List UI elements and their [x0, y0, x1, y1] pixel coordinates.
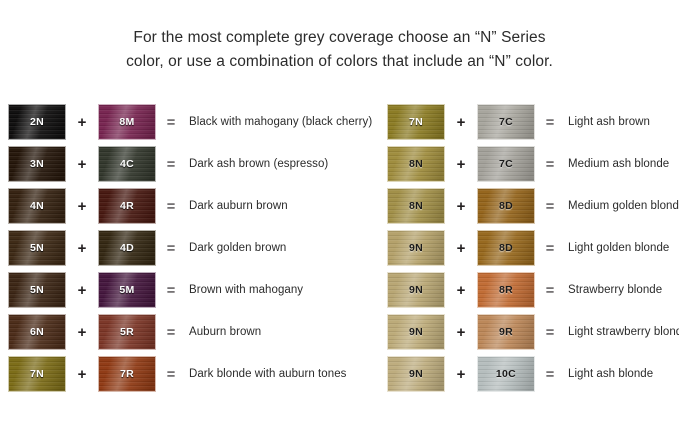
- equals-operator: =: [535, 282, 565, 299]
- mix-color-swatch-code: 4R: [120, 200, 134, 212]
- formula-row: 9N+8D=Light golden blonde: [387, 230, 679, 266]
- equals-operator: =: [156, 240, 186, 257]
- formula-row: 5N+5M=Brown with mahogany: [8, 272, 380, 308]
- mix-color-swatch: 7R: [98, 356, 156, 392]
- result-label: Light ash blonde: [565, 368, 679, 380]
- plus-operator: +: [66, 324, 98, 341]
- equals-operator: =: [156, 198, 186, 215]
- plus-operator: +: [66, 240, 98, 257]
- mix-color-swatch: 4R: [98, 188, 156, 224]
- base-color-swatch: 9N: [387, 356, 445, 392]
- formula-row: 4N+4R=Dark auburn brown: [8, 188, 380, 224]
- mix-color-swatch-code: 5R: [120, 326, 134, 338]
- base-color-swatch-code: 9N: [409, 368, 423, 380]
- formula-row: 9N+9R=Light strawberry blonde: [387, 314, 679, 350]
- mix-color-swatch: 9R: [477, 314, 535, 350]
- mix-color-swatch-code: 8M: [119, 116, 134, 128]
- mix-color-swatch: 5M: [98, 272, 156, 308]
- formula-row: 5N+4D=Dark golden brown: [8, 230, 380, 266]
- equals-operator: =: [535, 366, 565, 383]
- mix-color-swatch: 7C: [477, 146, 535, 182]
- base-color-swatch: 4N: [8, 188, 66, 224]
- mix-color-swatch: 7C: [477, 104, 535, 140]
- page-heading: For the most complete grey coverage choo…: [0, 26, 679, 74]
- result-label: Auburn brown: [186, 326, 380, 338]
- plus-operator: +: [66, 198, 98, 215]
- mix-color-swatch-code: 8R: [499, 284, 513, 296]
- result-label: Dark blonde with auburn tones: [186, 368, 380, 380]
- plus-operator: +: [445, 324, 477, 341]
- mix-color-swatch-code: 10C: [496, 368, 516, 380]
- base-color-swatch-code: 5N: [30, 242, 44, 254]
- plus-operator: +: [66, 366, 98, 383]
- result-label: Black with mahogany (black cherry): [186, 116, 380, 128]
- base-color-swatch: 8N: [387, 188, 445, 224]
- plus-operator: +: [66, 156, 98, 173]
- base-color-swatch: 5N: [8, 230, 66, 266]
- base-color-swatch-code: 8N: [409, 200, 423, 212]
- plus-operator: +: [445, 156, 477, 173]
- base-color-swatch-code: 8N: [409, 158, 423, 170]
- mix-color-swatch: 4D: [98, 230, 156, 266]
- base-color-swatch: 5N: [8, 272, 66, 308]
- result-label: Medium golden blonde: [565, 200, 679, 212]
- plus-operator: +: [66, 114, 98, 131]
- result-label: Dark ash brown (espresso): [186, 158, 380, 170]
- mix-color-swatch: 5R: [98, 314, 156, 350]
- mix-color-swatch: 10C: [477, 356, 535, 392]
- base-color-swatch-code: 6N: [30, 326, 44, 338]
- formula-row: 2N+8M=Black with mahogany (black cherry): [8, 104, 380, 140]
- base-color-swatch: 2N: [8, 104, 66, 140]
- formula-row: 6N+5R=Auburn brown: [8, 314, 380, 350]
- base-color-swatch: 7N: [387, 104, 445, 140]
- formula-row: 7N+7C=Light ash brown: [387, 104, 679, 140]
- heading-line-1: For the most complete grey coverage choo…: [0, 26, 679, 50]
- equals-operator: =: [535, 324, 565, 341]
- equals-operator: =: [535, 114, 565, 131]
- base-color-swatch-code: 9N: [409, 284, 423, 296]
- base-color-swatch-code: 9N: [409, 326, 423, 338]
- base-color-swatch: 8N: [387, 146, 445, 182]
- equals-operator: =: [156, 156, 186, 173]
- mix-color-swatch: 8M: [98, 104, 156, 140]
- formula-row: 8N+8D=Medium golden blonde: [387, 188, 679, 224]
- mix-color-swatch: 8D: [477, 230, 535, 266]
- formula-row: 9N+8R=Strawberry blonde: [387, 272, 679, 308]
- result-label: Dark auburn brown: [186, 200, 380, 212]
- plus-operator: +: [445, 240, 477, 257]
- result-label: Brown with mahogany: [186, 284, 380, 296]
- equals-operator: =: [535, 240, 565, 257]
- base-color-swatch: 6N: [8, 314, 66, 350]
- mix-color-swatch-code: 4C: [120, 158, 134, 170]
- result-label: Dark golden brown: [186, 242, 380, 254]
- mix-color-swatch-code: 7C: [499, 116, 513, 128]
- base-color-swatch: 9N: [387, 230, 445, 266]
- equals-operator: =: [156, 366, 186, 383]
- plus-operator: +: [445, 366, 477, 383]
- mix-color-swatch-code: 9R: [499, 326, 513, 338]
- base-color-swatch-code: 3N: [30, 158, 44, 170]
- formula-row: 3N+4C=Dark ash brown (espresso): [8, 146, 380, 182]
- mix-color-swatch: 4C: [98, 146, 156, 182]
- plus-operator: +: [445, 198, 477, 215]
- result-label: Light ash brown: [565, 116, 679, 128]
- base-color-swatch: 9N: [387, 272, 445, 308]
- base-color-swatch-code: 5N: [30, 284, 44, 296]
- base-color-swatch-code: 4N: [30, 200, 44, 212]
- right-formula-group: 7N+7C=Light ash brown8N+7C=Medium ash bl…: [387, 104, 679, 398]
- heading-line-2: color, or use a combination of colors th…: [0, 50, 679, 74]
- base-color-swatch: 3N: [8, 146, 66, 182]
- formula-row: 8N+7C=Medium ash blonde: [387, 146, 679, 182]
- equals-operator: =: [156, 114, 186, 131]
- mix-color-swatch-code: 7R: [120, 368, 134, 380]
- equals-operator: =: [156, 282, 186, 299]
- mix-color-swatch-code: 8D: [499, 200, 513, 212]
- formula-row: 7N+7R=Dark blonde with auburn tones: [8, 356, 380, 392]
- equals-operator: =: [535, 156, 565, 173]
- base-color-swatch-code: 7N: [30, 368, 44, 380]
- mix-color-swatch-code: 8D: [499, 242, 513, 254]
- equals-operator: =: [156, 324, 186, 341]
- formula-row: 9N+10C=Light ash blonde: [387, 356, 679, 392]
- base-color-swatch: 9N: [387, 314, 445, 350]
- plus-operator: +: [66, 282, 98, 299]
- base-color-swatch: 7N: [8, 356, 66, 392]
- mix-color-swatch: 8R: [477, 272, 535, 308]
- mix-color-swatch-code: 4D: [120, 242, 134, 254]
- equals-operator: =: [535, 198, 565, 215]
- mix-color-swatch: 8D: [477, 188, 535, 224]
- plus-operator: +: [445, 282, 477, 299]
- base-color-swatch-code: 7N: [409, 116, 423, 128]
- mix-color-swatch-code: 5M: [119, 284, 134, 296]
- base-color-swatch-code: 9N: [409, 242, 423, 254]
- plus-operator: +: [445, 114, 477, 131]
- result-label: Strawberry blonde: [565, 284, 679, 296]
- result-label: Medium ash blonde: [565, 158, 679, 170]
- result-label: Light strawberry blonde: [565, 326, 679, 338]
- result-label: Light golden blonde: [565, 242, 679, 254]
- base-color-swatch-code: 2N: [30, 116, 44, 128]
- mix-color-swatch-code: 7C: [499, 158, 513, 170]
- left-formula-group: 2N+8M=Black with mahogany (black cherry)…: [8, 104, 380, 398]
